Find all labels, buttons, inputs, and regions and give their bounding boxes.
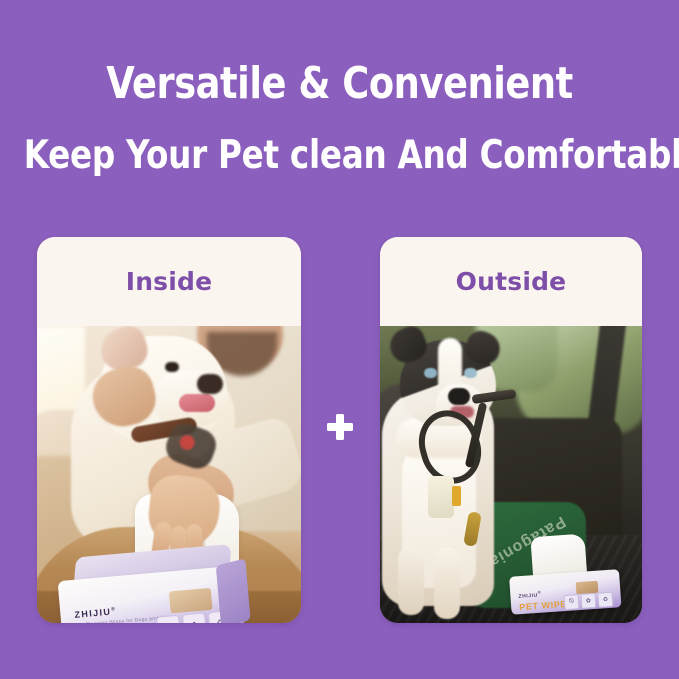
page-subheadline: Keep Your Pet clean And Comfortable	[24, 133, 655, 179]
collie-eye-left	[424, 368, 437, 378]
indoor-scene: ZHIJIU® Pet Cleaning Wipes for Dogs and …	[37, 326, 301, 623]
card-outside[interactable]: Outside Patagonia	[380, 237, 642, 623]
card-inside-photo: ZHIJIU® Pet Cleaning Wipes for Dogs and …	[37, 326, 301, 623]
headline-container: Versatile & Convenient	[0, 58, 679, 110]
card-outside-photo: Patagonia	[380, 326, 642, 623]
collie-nose	[448, 388, 470, 405]
no-alcohol-icon: ⦰	[563, 594, 579, 610]
collie-front-leg-left	[398, 547, 424, 615]
pack-body-small: ZHIJIU® PET WIPES ⦰ ✿ ♻	[509, 569, 621, 615]
recyclable-icon: ♻	[597, 592, 613, 608]
card-inside-title: Inside	[126, 267, 213, 296]
product-pack-inside: ZHIJIU® Pet Cleaning Wipes for Dogs and …	[56, 549, 248, 623]
plant-based-icon: ✿	[182, 612, 207, 623]
pack-brand-small: ZHIJIU®	[518, 590, 542, 600]
waste-bag-dispenser	[428, 476, 454, 518]
collie-front-leg-right	[434, 547, 460, 619]
card-outside-title: Outside	[456, 267, 567, 296]
pack-brand-text: ZHIJIU	[74, 607, 112, 620]
card-inside[interactable]: Inside	[37, 237, 301, 623]
pack-badges-small: ⦰ ✿ ♻	[563, 592, 613, 610]
registered-mark-small: ®	[538, 590, 542, 595]
no-alcohol-icon: ⦰	[156, 615, 181, 623]
infographic-canvas: Versatile & Convenient Keep Your Pet cle…	[0, 0, 679, 679]
plus-bar-vertical	[336, 414, 344, 440]
registered-mark: ®	[111, 606, 117, 612]
card-inside-header: Inside	[37, 237, 301, 326]
pack-brand-text-small: ZHIJIU	[518, 593, 538, 600]
white-dog-nose	[197, 374, 223, 394]
pack-side-panel	[216, 558, 251, 623]
white-dog-eye	[165, 362, 179, 372]
product-pack-outside: ZHIJIU® PET WIPES ⦰ ✿ ♻	[509, 561, 622, 615]
card-outside-header: Outside	[380, 237, 642, 326]
dispenser-tag	[452, 486, 461, 506]
outdoor-scene: Patagonia	[380, 326, 642, 623]
plus-icon	[327, 414, 353, 440]
pack-brand: ZHIJIU®	[74, 606, 117, 620]
plant-based-icon: ✿	[580, 593, 596, 609]
collie-eye-right	[464, 368, 477, 378]
white-dog-tongue	[179, 394, 215, 412]
pack-photo-inset	[169, 588, 213, 614]
subheadline-container: Keep Your Pet clean And Comfortable	[0, 133, 679, 179]
page-headline: Versatile & Convenient	[24, 58, 655, 110]
